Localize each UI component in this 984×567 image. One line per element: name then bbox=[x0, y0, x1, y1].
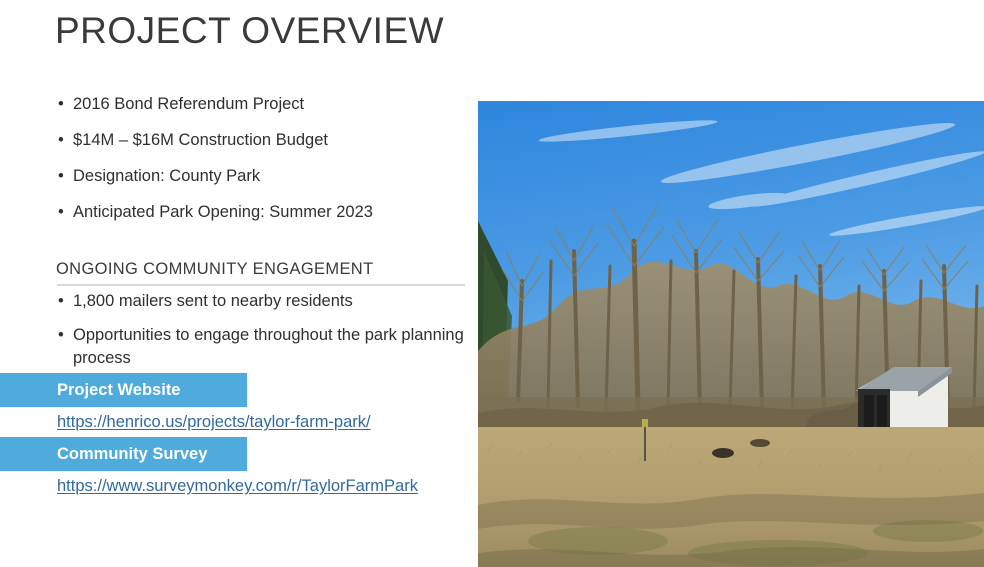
left-content-column: • 2016 Bond Referendum Project • $14M – … bbox=[0, 0, 478, 567]
list-item-label: $14M – $16M Construction Budget bbox=[73, 131, 328, 149]
list-item: • Anticipated Park Opening: Summer 2023 bbox=[57, 201, 467, 223]
community-survey-link[interactable]: https://www.surveymonkey.com/r/TaylorFar… bbox=[57, 475, 418, 497]
list-item: • 2016 Bond Referendum Project bbox=[57, 93, 467, 115]
community-survey-band: Community Survey bbox=[0, 437, 247, 471]
bullet-marker-icon: • bbox=[58, 93, 64, 115]
project-website-band: Project Website bbox=[0, 373, 247, 407]
project-website-link[interactable]: https://henrico.us/projects/taylor-farm-… bbox=[57, 411, 371, 433]
list-item-label: Opportunities to engage throughout the p… bbox=[73, 326, 464, 367]
list-item-label: Anticipated Park Opening: Summer 2023 bbox=[73, 203, 373, 221]
list-item-label: 2016 Bond Referendum Project bbox=[73, 95, 304, 113]
project-website-label: Project Website bbox=[57, 373, 180, 407]
slide-canvas: PROJECT OVERVIEW • 2016 Bond Referendum … bbox=[0, 0, 984, 567]
park-photo-illustration bbox=[478, 101, 984, 567]
community-survey-label: Community Survey bbox=[57, 437, 207, 471]
bullet-marker-icon: • bbox=[58, 129, 64, 151]
list-item: • 1,800 mailers sent to nearby residents bbox=[57, 290, 472, 313]
list-item: • $14M – $16M Construction Budget bbox=[57, 129, 467, 151]
list-item-label: Designation: County Park bbox=[73, 167, 260, 185]
bullet-marker-icon: • bbox=[58, 165, 64, 187]
list-item: • Designation: County Park bbox=[57, 165, 467, 187]
overview-bullet-list: • 2016 Bond Referendum Project • $14M – … bbox=[57, 93, 467, 237]
section-heading-engagement: ONGOING COMMUNITY ENGAGEMENT bbox=[56, 259, 374, 279]
bullet-marker-icon: • bbox=[58, 201, 64, 223]
section-divider bbox=[57, 284, 465, 286]
bullet-marker-icon: • bbox=[58, 290, 64, 313]
list-item-label: 1,800 mailers sent to nearby residents bbox=[73, 292, 353, 310]
park-photo bbox=[478, 101, 984, 567]
engagement-bullet-list: • 1,800 mailers sent to nearby residents… bbox=[57, 290, 472, 381]
bullet-marker-icon: • bbox=[58, 324, 64, 347]
list-item: • Opportunities to engage throughout the… bbox=[57, 324, 472, 370]
